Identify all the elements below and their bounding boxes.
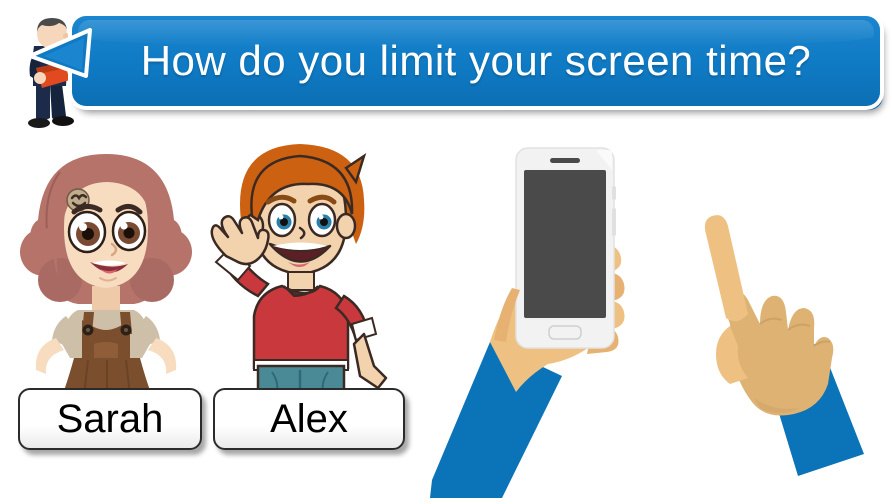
nameplate-alex-label: Alex — [270, 399, 348, 439]
hand-pointing-up — [668, 208, 886, 500]
nameplate-sarah-label: Sarah — [57, 399, 164, 439]
prop-hand-pointing-up — [668, 208, 886, 500]
character-alex — [196, 138, 408, 400]
page-title: How do you limit your screen time? — [72, 16, 880, 106]
sarah-figure — [8, 148, 204, 400]
nameplate-sarah[interactable]: Sarah — [18, 388, 202, 450]
hand-holding-smartphone — [424, 128, 664, 498]
character-sarah — [8, 148, 204, 400]
prop-hand-holding-smartphone — [424, 128, 664, 498]
question-speech-bubble: How do you limit your screen time? — [72, 16, 880, 106]
slide-canvas: How do you limit your screen time? — [0, 0, 892, 504]
nameplate-alex[interactable]: Alex — [213, 388, 405, 450]
alex-figure — [196, 138, 408, 400]
